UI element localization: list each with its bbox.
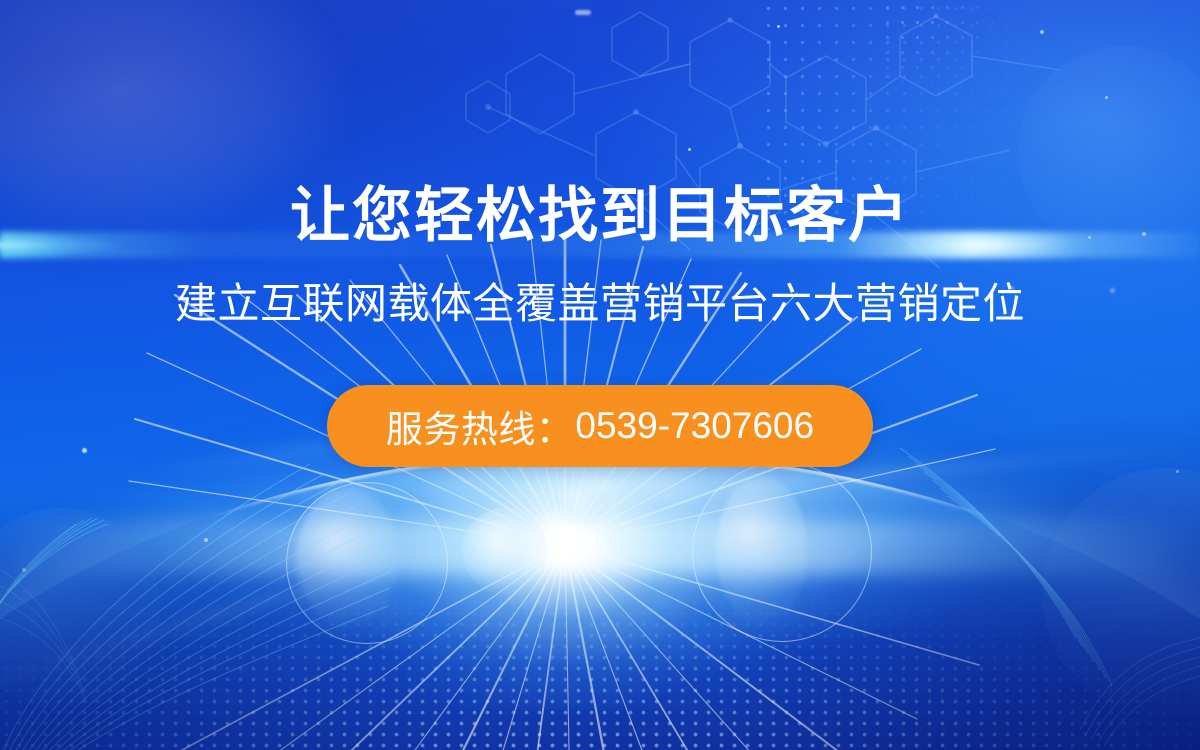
banner-content: 让您轻松找到目标客户 建立互联网载体全覆盖营销平台六大营销定位 服务热线： 05… <box>0 0 1200 750</box>
hotline-cta-button[interactable]: 服务热线： 0539-7307606 <box>327 385 873 467</box>
page-title: 让您轻松找到目标客户 <box>0 186 1200 246</box>
subtitle: 建立互联网载体全覆盖营销平台六大营销定位 <box>0 281 1200 326</box>
hotline-label: 服务热线： <box>386 399 574 453</box>
promotional-banner: 让您轻松找到目标客户 建立互联网载体全覆盖营销平台六大营销定位 服务热线： 05… <box>0 0 1200 750</box>
hotline-phone-number: 0539-7307606 <box>575 405 814 447</box>
